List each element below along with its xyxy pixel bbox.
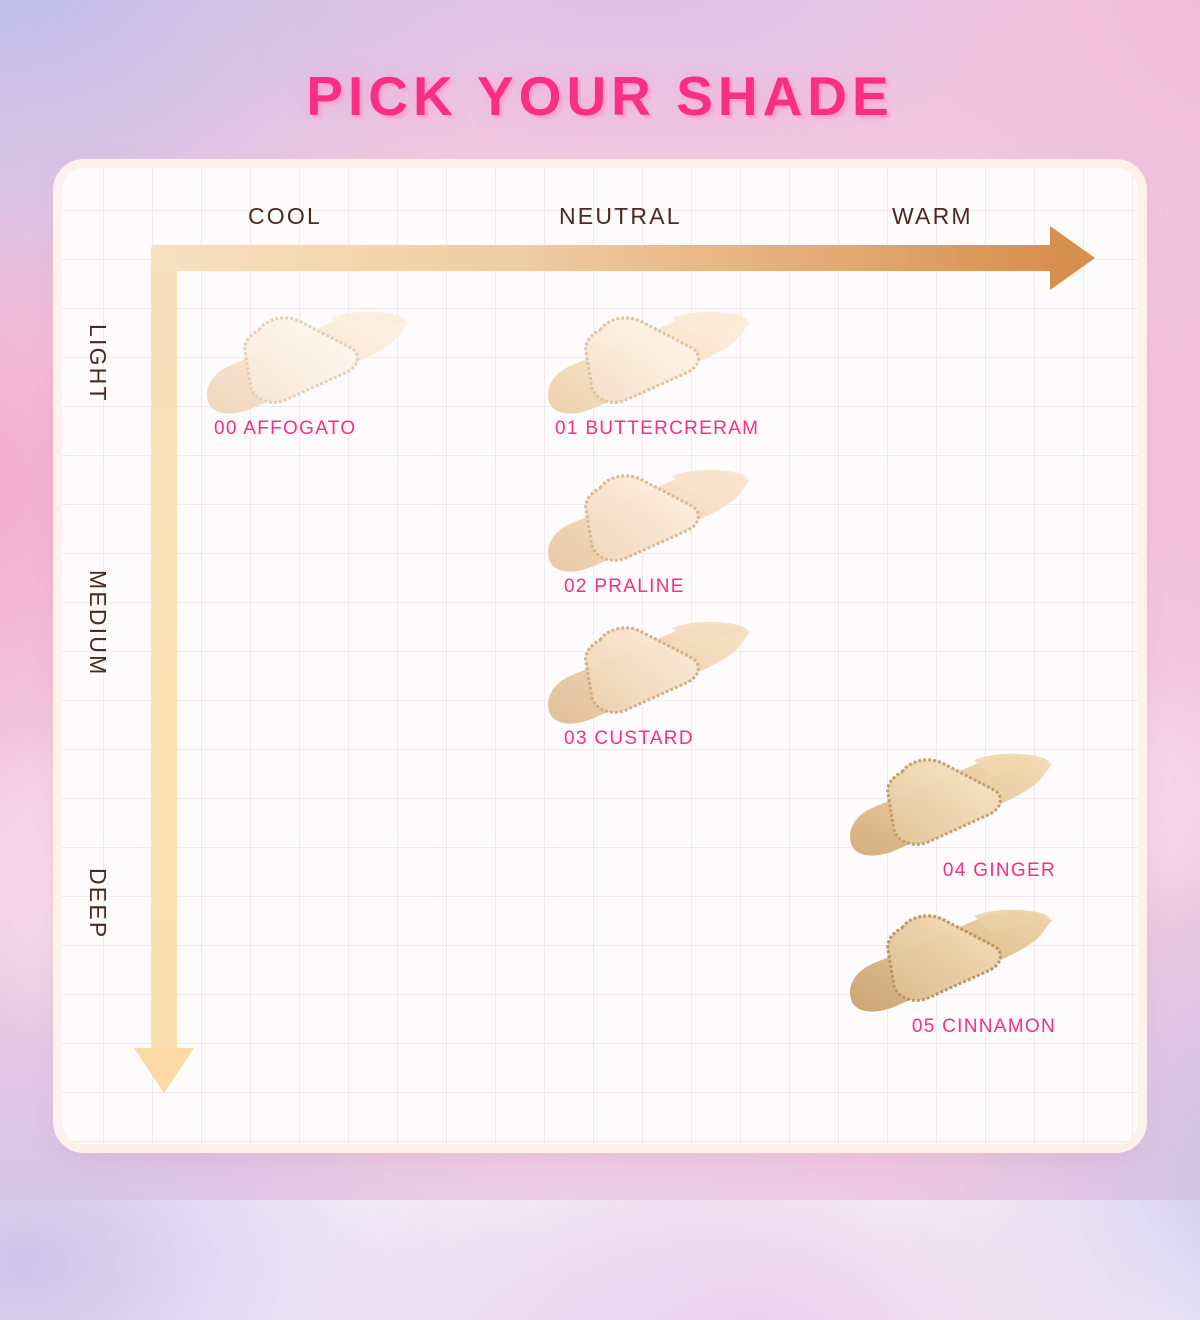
- axis-label-deep: DEEP: [84, 868, 111, 939]
- shade-chart-card: COOL NEUTRAL WARM LIGHT MEDIUM DEEP 00: [62, 168, 1138, 1144]
- depth-axis-arrowhead: [134, 1048, 194, 1093]
- swatch-05-cinnamon: [844, 906, 1056, 1018]
- swatch-03-custard: [542, 618, 754, 730]
- shade-label-03: 03 CUSTARD: [542, 728, 774, 750]
- page-title: PICK YOUR SHADE: [0, 64, 1200, 128]
- shade-label-02: 02 PRALINE: [542, 576, 774, 598]
- undertone-axis-arrowhead: [1050, 226, 1095, 290]
- axis-label-medium: MEDIUM: [84, 570, 111, 676]
- axis-label-warm: WARM: [892, 203, 973, 230]
- swatch-02-praline: [542, 466, 754, 578]
- swatch-04-ginger: [844, 750, 1056, 862]
- axis-corner: [151, 245, 177, 271]
- shade-label-05: 05 CINNAMON: [844, 1016, 1056, 1038]
- swatch-00-affogato: [201, 308, 413, 420]
- axis-label-cool: COOL: [248, 203, 322, 230]
- shade-item-03[interactable]: 03 CUSTARD: [542, 618, 774, 750]
- shade-item-01[interactable]: 01 BUTTERCRERAM: [542, 308, 754, 440]
- shade-item-04[interactable]: 04 GINGER: [844, 750, 1056, 882]
- shade-label-01: 01 BUTTERCRERAM: [542, 418, 754, 440]
- shade-item-02[interactable]: 02 PRALINE: [542, 466, 774, 598]
- shade-item-00[interactable]: 00 AFFOGATO: [201, 308, 413, 440]
- undertone-axis-bar: [151, 245, 1056, 271]
- axis-label-neutral: NEUTRAL: [559, 203, 682, 230]
- shade-label-04: 04 GINGER: [844, 860, 1056, 882]
- shade-label-00: 00 AFFOGATO: [201, 418, 413, 440]
- shade-item-05[interactable]: 05 CINNAMON: [844, 906, 1056, 1038]
- depth-axis-bar: [151, 245, 177, 1055]
- axis-label-light: LIGHT: [84, 324, 111, 403]
- swatch-01-buttercreram: [542, 308, 754, 420]
